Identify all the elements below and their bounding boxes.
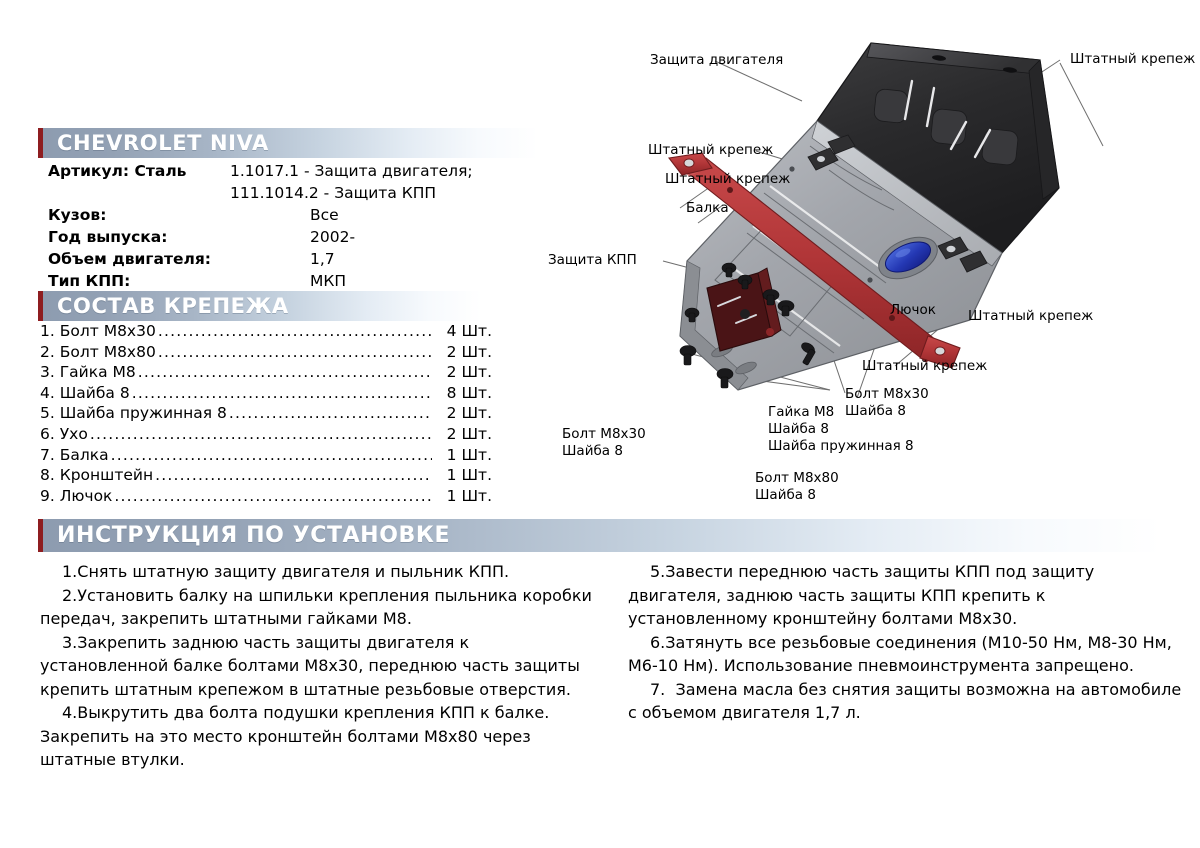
spec-value-article-line2: 111.1014.2 - Защита КПП	[48, 184, 568, 206]
parts-item-quantity: 8 Шт.	[434, 384, 492, 402]
instruction-step: 5.Завести переднюю часть защиты КПП под …	[628, 560, 1188, 631]
parts-item-name: 8. Кронштейн	[40, 466, 153, 484]
parts-list-item: 1. Болт М8х30...........................…	[40, 322, 492, 343]
model-header-bar: CHEVROLET NIVA	[38, 128, 538, 158]
spec-label-year: Год выпуска:	[48, 228, 310, 246]
parts-item-quantity: 1 Шт.	[434, 487, 492, 505]
parts-item-name: 2. Болт М8х80	[40, 343, 156, 361]
spec-row-article: Артикул: Сталь 1.1017.1 - Защита двигате…	[48, 162, 568, 184]
spec-value-year: 2002-	[310, 228, 355, 246]
parts-item-leader: ........................................…	[132, 384, 432, 402]
spec-label-body: Кузов:	[48, 206, 310, 224]
label-std-fastener-beam-left: Штатный крепеж	[665, 171, 790, 188]
parts-list-item: 9. Лючок................................…	[40, 487, 492, 508]
parts-item-quantity: 1 Шт.	[434, 466, 492, 484]
label-beam: Балка	[686, 200, 729, 217]
parts-item-leader: ........................................…	[90, 425, 432, 443]
parts-item-leader: ........................................…	[229, 404, 432, 422]
parts-item-leader: ........................................…	[114, 487, 432, 505]
parts-item-leader: ........................................…	[158, 322, 432, 340]
parts-item-leader: ........................................…	[155, 466, 432, 484]
spec-row-engine-volume: Объем двигателя: 1,7	[48, 250, 568, 272]
label-std-fastener-top-right: Штатный крепеж	[1070, 51, 1195, 68]
parts-item-name: 3. Гайка М8	[40, 363, 136, 381]
instructions-column-right: 5.Завести переднюю часть защиты КПП под …	[628, 560, 1188, 725]
instruction-step: 1.Снять штатную защиту двигателя и пыльн…	[40, 560, 600, 584]
parts-item-leader: ........................................…	[111, 446, 432, 464]
spec-value-gearbox-type: МКП	[310, 272, 346, 290]
parts-item-name: 1. Болт М8х30	[40, 322, 156, 340]
label-group-bolt-m8x30-right: Болт М8х30 Шайба 8	[845, 386, 929, 420]
parts-title: СОСТАВ КРЕПЕЖА	[43, 294, 289, 318]
parts-item-leader: ........................................…	[158, 343, 432, 361]
spec-value-body: Все	[310, 206, 339, 224]
assembly-diagram: Защита двигателя Штатный крепеж Штатный …	[540, 18, 1200, 518]
parts-list-item: 7. Балка................................…	[40, 446, 492, 467]
fastener-parts-list: 1. Болт М8х30...........................…	[40, 322, 492, 507]
label-std-fastener-right: Штатный крепеж	[968, 308, 1093, 325]
instruction-step: 7. Замена масла без снятия защиты возмож…	[628, 678, 1188, 725]
spec-label-article: Артикул: Сталь	[48, 162, 230, 180]
instruction-step: 4.Выкрутить два болта подушки крепления …	[40, 701, 600, 772]
instructions-header-bar: ИНСТРУКЦИЯ ПО УСТАНОВКЕ	[38, 519, 1162, 552]
parts-list-item: 8. Кронштейн............................…	[40, 466, 492, 487]
installation-instruction-sheet: Защита двигателя Штатный крепеж Штатный …	[0, 0, 1200, 848]
parts-item-quantity: 4 Шт.	[434, 322, 492, 340]
parts-item-quantity: 2 Шт.	[434, 425, 492, 443]
instruction-step: 3.Закрепить заднюю часть защиты двигател…	[40, 631, 600, 702]
label-group-bolt-m8x30-washer: Болт М8х30 Шайба 8	[562, 426, 646, 460]
parts-item-name: 4. Шайба 8	[40, 384, 130, 402]
parts-list-item: 6. Ухо..................................…	[40, 425, 492, 446]
label-std-fastener-beam-right: Штатный крепеж	[862, 358, 987, 375]
instruction-step: 6.Затянуть все резьбовые соединения (М10…	[628, 631, 1188, 678]
parts-item-quantity: 2 Шт.	[434, 404, 492, 422]
parts-item-name: 5. Шайба пружинная 8	[40, 404, 227, 422]
parts-item-quantity: 1 Шт.	[434, 446, 492, 464]
spec-label-gearbox-type: Тип КПП:	[48, 272, 310, 290]
instructions-column-left: 1.Снять штатную защиту двигателя и пыльн…	[40, 560, 600, 772]
parts-list-item: 3. Гайка М8.............................…	[40, 363, 492, 384]
label-engine-shield: Защита двигателя	[650, 52, 783, 69]
parts-item-name: 7. Балка	[40, 446, 109, 464]
parts-item-name: 9. Лючок	[40, 487, 112, 505]
parts-item-quantity: 2 Шт.	[434, 363, 492, 381]
parts-item-name: 6. Ухо	[40, 425, 88, 443]
label-hatch: Лючок	[890, 302, 936, 319]
instruction-step: 2.Установить балку на шпильки крепления …	[40, 584, 600, 631]
model-title: CHEVROLET NIVA	[43, 131, 269, 155]
specification-table: Артикул: Сталь 1.1017.1 - Защита двигате…	[48, 162, 568, 294]
parts-item-leader: ........................................…	[138, 363, 432, 381]
spec-label-engine-volume: Объем двигателя:	[48, 250, 310, 268]
parts-item-quantity: 2 Шт.	[434, 343, 492, 361]
instructions-title: ИНСТРУКЦИЯ ПО УСТАНОВКЕ	[43, 523, 450, 548]
parts-list-item: 5. Шайба пружинная 8....................…	[40, 404, 492, 425]
spec-row-body: Кузов: Все	[48, 206, 568, 228]
spec-value-engine-volume: 1,7	[310, 250, 335, 268]
spec-value-article: 1.1017.1 - Защита двигателя;	[230, 162, 473, 180]
parts-list-item: 4. Шайба 8..............................…	[40, 384, 492, 405]
parts-list-item: 2. Болт М8х80...........................…	[40, 343, 492, 364]
label-group-bolt-m8x80: Болт М8х80 Шайба 8	[755, 470, 839, 504]
label-std-fastener-mid-left: Штатный крепеж	[648, 142, 773, 159]
parts-header-bar: СОСТАВ КРЕПЕЖА	[38, 291, 482, 321]
spec-row-year: Год выпуска: 2002-	[48, 228, 568, 250]
